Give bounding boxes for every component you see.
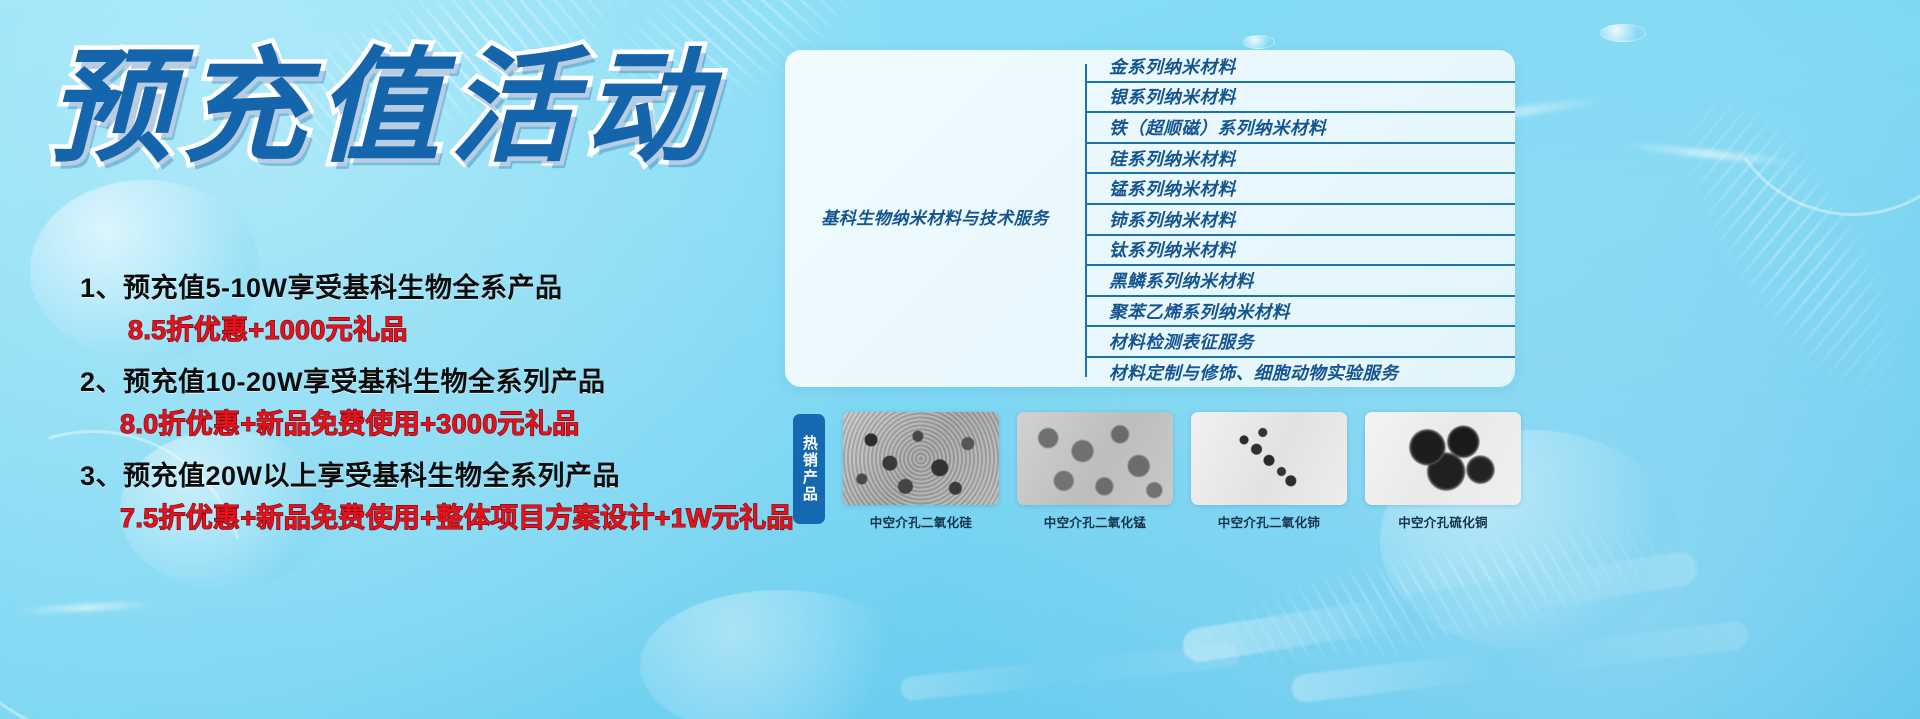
ring-decoration: [1699, 0, 1920, 237]
product-caption: 中空介孔二氧化硅: [843, 512, 999, 531]
tube-decoration: [1181, 550, 1700, 665]
tube-decoration: [1290, 620, 1750, 704]
service-label: 材料检测表征服务: [1109, 329, 1254, 354]
offer-item: 2、预充值10-20W享受基科生物全系列产品 8.0折优惠+新品免费使用+300…: [80, 362, 820, 446]
product-thumbnail: [1365, 412, 1521, 505]
service-list-item[interactable]: 材料检测表征服务: [1087, 327, 1515, 358]
product-card[interactable]: 中空介孔二氧化锰: [1017, 412, 1173, 531]
promo-banner: 预充值活动 1、预充值5-10W享受基科生物全系产品 8.5折优惠+1000元礼…: [0, 0, 1920, 719]
service-list-item[interactable]: 锰系列纳米材料: [1087, 174, 1515, 205]
tube-decoration: [900, 642, 1241, 701]
hot-products-badge-label: 热销产品: [801, 435, 817, 503]
services-list: 金系列纳米材料 银系列纳米材料 铁（超顺磁）系列纳米材料 硅系列纳米材料 锰系列…: [1087, 50, 1515, 387]
page-title: 预充值活动: [48, 46, 718, 170]
services-card-title: 基科生物纳米材料与技术服务: [821, 207, 1049, 231]
product-thumbnail: [1191, 412, 1347, 505]
offer-title: 2、预充值10-20W享受基科生物全系列产品: [80, 362, 820, 403]
product-card[interactable]: 中空介孔硫化铜: [1365, 412, 1521, 531]
bubble-icon: [1243, 35, 1275, 49]
product-caption: 中空介孔二氧化锰: [1017, 512, 1173, 531]
product-card[interactable]: 中空介孔二氧化硅: [843, 412, 999, 531]
service-list-item[interactable]: 银系列纳米材料: [1087, 83, 1515, 114]
offer-title: 1、预充值5-10W享受基科生物全系产品: [80, 268, 820, 309]
light-streak: [1620, 141, 1800, 168]
service-label: 金系列纳米材料: [1109, 54, 1236, 79]
water-blob: [640, 590, 920, 719]
service-label: 钛系列纳米材料: [1109, 237, 1236, 262]
product-card[interactable]: 中空介孔二氧化铈: [1191, 412, 1347, 531]
offer-detail: 8.5折优惠+1000元礼品: [128, 309, 820, 353]
service-list-item[interactable]: 铈系列纳米材料: [1087, 205, 1515, 236]
service-label: 锰系列纳米材料: [1109, 176, 1236, 201]
product-caption: 中空介孔硫化铜: [1365, 512, 1521, 531]
services-card: 基科生物纳米材料与技术服务 金系列纳米材料 银系列纳米材料 铁（超顺磁）系列纳米…: [785, 50, 1515, 387]
service-label: 硅系列纳米材料: [1109, 146, 1236, 171]
service-list-item[interactable]: 材料定制与修饰、细胞动物实验服务: [1087, 358, 1515, 387]
service-list-item[interactable]: 金系列纳米材料: [1087, 52, 1515, 83]
product-caption: 中空介孔二氧化铈: [1191, 512, 1347, 531]
service-label: 聚苯乙烯系列纳米材料: [1109, 299, 1290, 324]
service-list-item[interactable]: 铁（超顺磁）系列纳米材料: [1087, 113, 1515, 144]
offer-detail: 8.0折优惠+新品免费使用+3000元礼品: [120, 403, 820, 447]
bubble-icon: [1600, 24, 1646, 42]
offer-list: 1、预充值5-10W享受基科生物全系产品 8.5折优惠+1000元礼品 2、预充…: [80, 268, 820, 551]
service-label: 材料定制与修饰、细胞动物实验服务: [1109, 360, 1399, 385]
service-list-item[interactable]: 聚苯乙烯系列纳米材料: [1087, 297, 1515, 328]
service-label: 铈系列纳米材料: [1109, 207, 1236, 232]
hot-products-badge: 热销产品: [793, 414, 825, 524]
service-label: 银系列纳米材料: [1109, 84, 1236, 109]
offer-title: 3、预充值20W以上享受基科生物全系列产品: [80, 456, 820, 497]
light-streak: [12, 600, 162, 615]
services-card-left: 基科生物纳米材料与技术服务: [785, 50, 1085, 387]
service-label: 铁（超顺磁）系列纳米材料: [1109, 115, 1326, 140]
product-thumbnail: [1017, 412, 1173, 505]
service-label: 黑鳞系列纳米材料: [1109, 268, 1254, 293]
offer-item: 1、预充值5-10W享受基科生物全系产品 8.5折优惠+1000元礼品: [80, 268, 820, 352]
product-thumbnail: [843, 412, 999, 505]
offer-detail: 7.5折优惠+新品免费使用+整体项目方案设计+1W元礼品: [120, 497, 820, 541]
hot-products-strip: 热销产品 中空介孔二氧化硅 中空介孔二氧化锰 中空介孔二氧化铈 中空介孔硫化铜: [785, 412, 1885, 542]
service-list-item[interactable]: 硅系列纳米材料: [1087, 144, 1515, 175]
service-list-item[interactable]: 钛系列纳米材料: [1087, 236, 1515, 267]
service-list-item[interactable]: 黑鳞系列纳米材料: [1087, 266, 1515, 297]
offer-item: 3、预充值20W以上享受基科生物全系列产品 7.5折优惠+新品免费使用+整体项目…: [80, 456, 820, 540]
